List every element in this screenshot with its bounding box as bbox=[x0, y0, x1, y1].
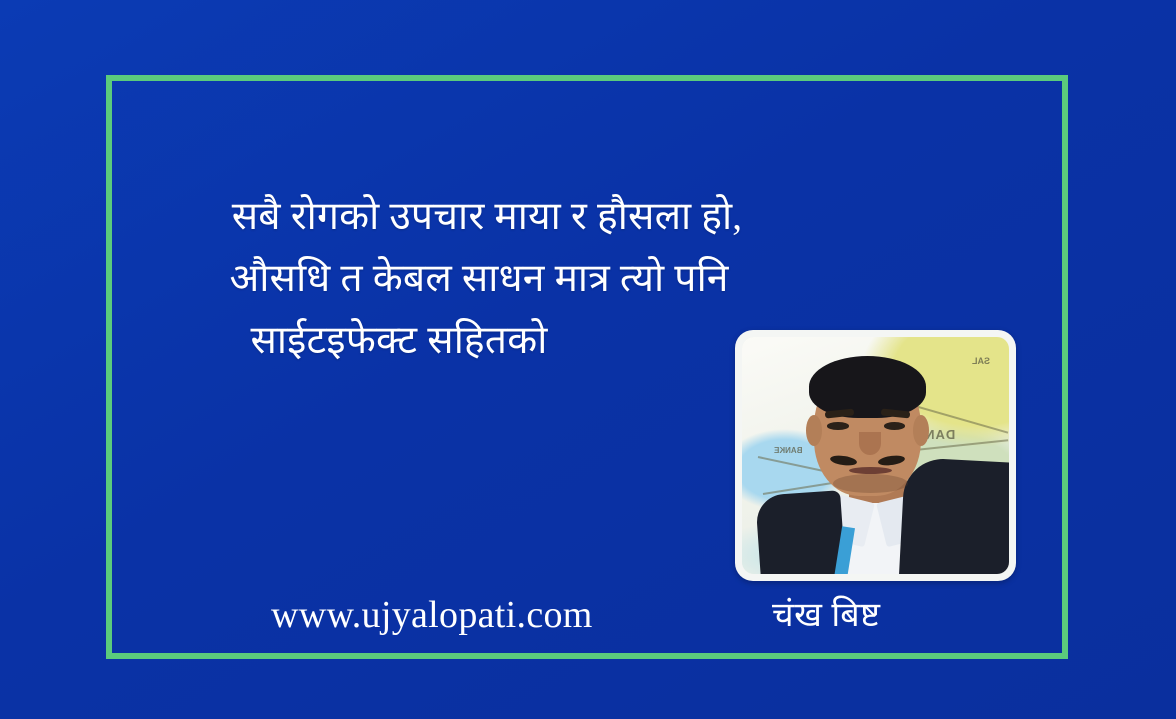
ear-left bbox=[806, 415, 822, 446]
hair bbox=[809, 356, 926, 418]
quote-line-2: औसधि त केबल साधन मात्र त्यो पनि bbox=[130, 248, 850, 310]
quote-line-1: सबै रोगको उपचार माया र हौसला हो, bbox=[130, 186, 850, 248]
ear-right bbox=[913, 415, 929, 446]
black-vest-left bbox=[755, 491, 846, 574]
eye-right bbox=[884, 422, 905, 430]
website-url: www.ujyalopati.com bbox=[271, 592, 593, 638]
black-vest-right bbox=[899, 457, 1009, 574]
portrait-photo: SAL DANG BANKE bbox=[735, 330, 1016, 581]
credit-name: चंख बिष्ट bbox=[772, 593, 880, 639]
portrait-image: SAL DANG BANKE bbox=[742, 337, 1009, 574]
person-figure bbox=[742, 337, 1009, 574]
quote-card: सबै रोगको उपचार माया र हौसला हो, औसधि त … bbox=[0, 0, 1176, 719]
eye-left bbox=[827, 422, 848, 430]
